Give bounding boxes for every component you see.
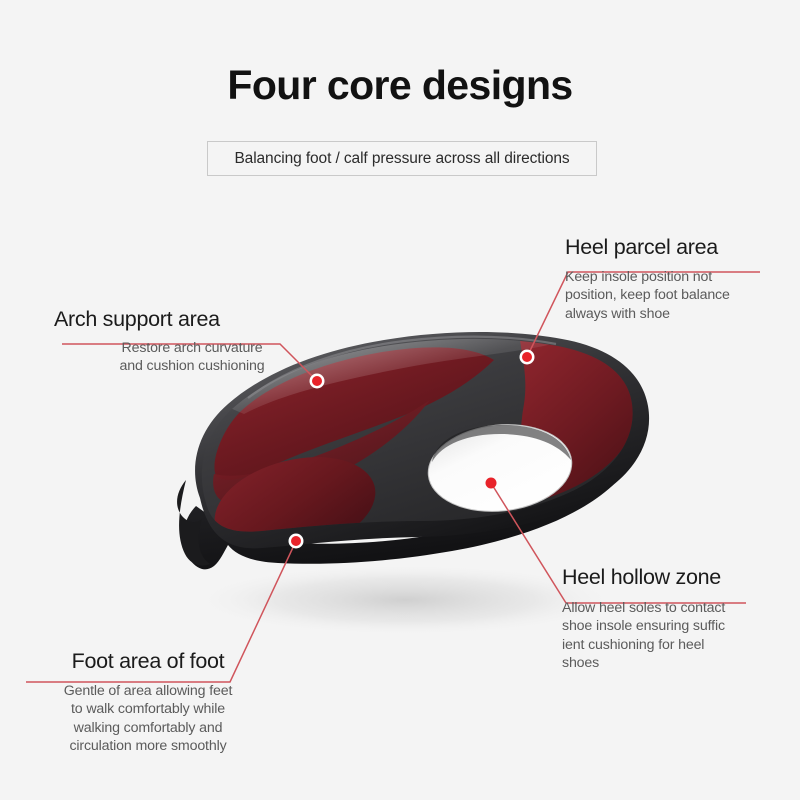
callout-hollow-body: Allow heel soles to contact shoe insole … bbox=[562, 590, 800, 673]
callout-hollow-body-line: shoes bbox=[562, 654, 800, 672]
callout-hollow-body-line: ient cushioning for heel bbox=[562, 636, 800, 654]
callout-footarea-body-line: to walk comfortably while bbox=[14, 700, 282, 718]
callout-arch-body-line: Restore arch curvature bbox=[66, 339, 318, 357]
marker-hollow[interactable] bbox=[486, 478, 497, 489]
callout-hollow-body-line: Allow heel soles to contact bbox=[562, 599, 800, 617]
callout-footarea-body: Gentle of area allowing feet to walk com… bbox=[14, 674, 282, 756]
callout-arch-body: Restore arch curvature and cushion cushi… bbox=[66, 332, 318, 376]
infographic-canvas: Four core designs Balancing foot / calf … bbox=[0, 0, 800, 800]
callout-parcel-body: Keep insole position not position, keep … bbox=[565, 260, 800, 323]
callout-hollow-heading: Heel hollow zone bbox=[562, 566, 800, 590]
callout-footarea-body-line: circulation more smoothly bbox=[14, 737, 282, 755]
callout-parcel-body-line: always with shoe bbox=[565, 305, 800, 323]
callout-footarea-heading: Foot area of foot bbox=[14, 650, 282, 674]
callout-hollow-body-line: shoe insole ensuring suffic bbox=[562, 617, 800, 635]
callout-arch-support: Arch support area Restore arch curvature… bbox=[52, 308, 352, 376]
callout-heel-hollow: Heel hollow zone Allow heel soles to con… bbox=[562, 566, 800, 672]
marker-footarea-dot bbox=[291, 536, 301, 546]
callout-arch-body-line: and cushion cushioning bbox=[66, 357, 318, 375]
marker-parcel-dot bbox=[522, 352, 532, 362]
marker-arch-dot bbox=[312, 376, 322, 386]
callout-parcel-heading: Heel parcel area bbox=[565, 236, 800, 260]
callout-parcel-body-line: Keep insole position not bbox=[565, 268, 800, 286]
callout-parcel-body-line: position, keep foot balance bbox=[565, 286, 800, 304]
callout-foot-area: Foot area of foot Gentle of area allowin… bbox=[14, 650, 282, 755]
callout-footarea-body-line: Gentle of area allowing feet bbox=[14, 682, 282, 700]
callout-heel-parcel: Heel parcel area Keep insole position no… bbox=[565, 236, 800, 323]
callout-arch-heading: Arch support area bbox=[52, 308, 352, 332]
product-shadow bbox=[190, 564, 620, 636]
callout-footarea-body-line: walking comfortably and bbox=[14, 719, 282, 737]
